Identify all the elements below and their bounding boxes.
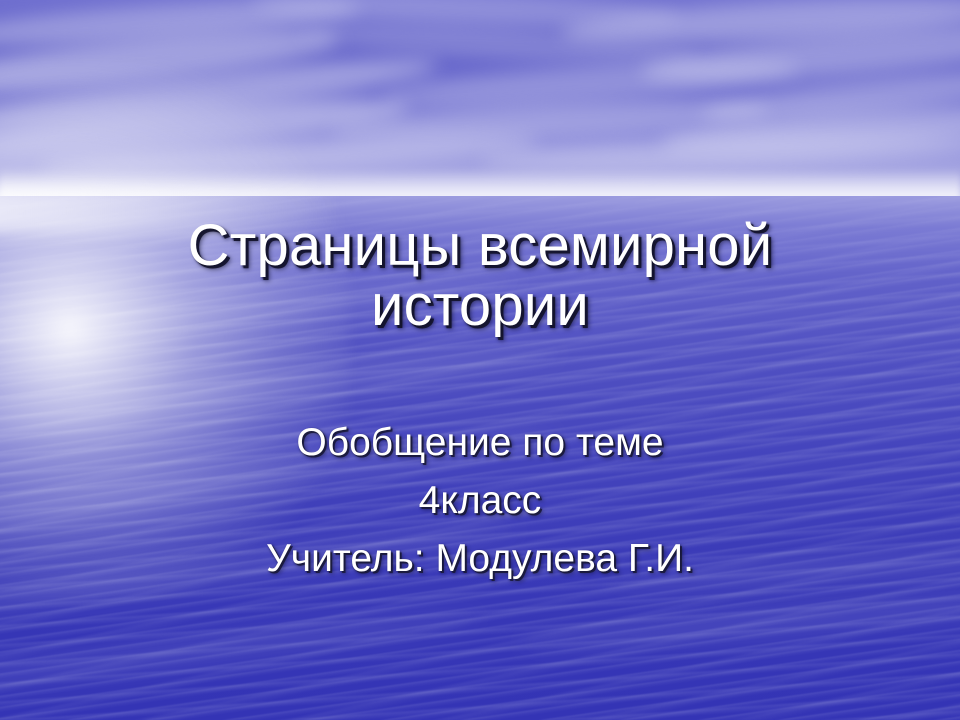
slide-title: Страницы всемирной истории bbox=[80, 216, 880, 336]
slide-subtitle: Обобщение по теме 4класс Учитель: Модуле… bbox=[80, 414, 880, 588]
subtitle-line-grade: 4класс bbox=[80, 472, 880, 530]
subtitle-line-teacher: Учитель: Модулева Г.И. bbox=[80, 530, 880, 588]
slide-text-layer: Страницы всемирной истории Обобщение по … bbox=[0, 0, 960, 720]
presentation-slide: Страницы всемирной истории Обобщение по … bbox=[0, 0, 960, 720]
subtitle-line-topic: Обобщение по теме bbox=[80, 414, 880, 472]
